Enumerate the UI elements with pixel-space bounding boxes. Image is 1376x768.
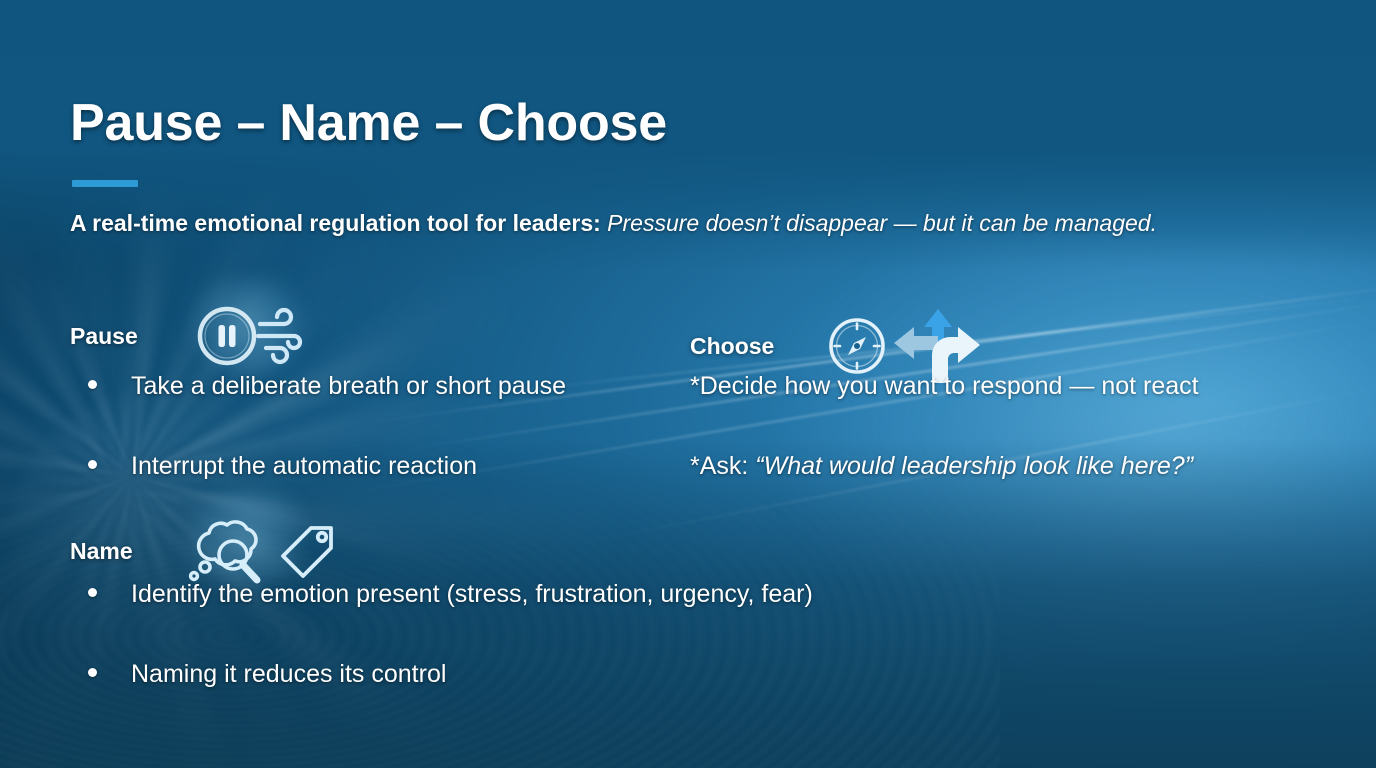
- slide: Pause – Name – Choose A real-time emotio…: [0, 0, 1376, 768]
- bullet-text: *Decide how you want to respond — not re…: [690, 372, 1199, 400]
- tag-icon: [275, 518, 341, 584]
- compass-icon: [826, 315, 888, 377]
- bullet-name-2: Naming it reduces its control: [88, 660, 446, 689]
- bullet-dot-icon: [88, 380, 97, 389]
- wind-breath-icon: [254, 308, 312, 364]
- bullet-text-emphasis: “What would leadership look like here?”: [755, 452, 1193, 480]
- bullet-text: Identify the emotion present (stress, fr…: [131, 580, 813, 609]
- bullet-text: Naming it reduces its control: [131, 660, 446, 689]
- bullet-dot-icon: [88, 668, 97, 677]
- section-label-name: Name: [70, 538, 133, 565]
- bullet-text: Take a deliberate breath or short pause: [131, 372, 566, 401]
- bullet-dot-icon: [88, 460, 97, 469]
- subtitle-emphasis: Pressure doesn’t disappear — but it can …: [601, 210, 1157, 236]
- bullet-name-1: Identify the emotion present (stress, fr…: [88, 580, 813, 609]
- thought-bubble-magnifier-icon: [181, 515, 273, 587]
- pause-icon-group: [196, 305, 312, 367]
- name-icon-group: [181, 515, 341, 587]
- pause-circle-icon: [196, 305, 258, 367]
- bullet-choose-2: *Ask: “What would leadership look like h…: [690, 452, 1193, 481]
- section-label-pause: Pause: [70, 323, 138, 350]
- section-label-choose: Choose: [690, 333, 774, 360]
- title-accent-bar: [72, 180, 138, 187]
- bullet-pause-1: Take a deliberate breath or short pause: [88, 372, 566, 401]
- bullet-pause-2: Interrupt the automatic reaction: [88, 452, 477, 481]
- bullet-text: *Ask:: [690, 452, 755, 480]
- section-header-pause: Pause: [70, 305, 312, 367]
- slide-title: Pause – Name – Choose: [70, 93, 667, 153]
- bullet-text: Interrupt the automatic reaction: [131, 452, 477, 481]
- slide-subtitle: A real-time emotional regulation tool fo…: [70, 207, 1230, 240]
- slide-content: Pause – Name – Choose A real-time emotio…: [0, 0, 1376, 768]
- bullet-dot-icon: [88, 588, 97, 597]
- section-header-name: Name: [70, 515, 341, 587]
- subtitle-lead: A real-time emotional regulation tool fo…: [70, 210, 601, 236]
- bullet-choose-1: *Decide how you want to respond — not re…: [690, 372, 1199, 401]
